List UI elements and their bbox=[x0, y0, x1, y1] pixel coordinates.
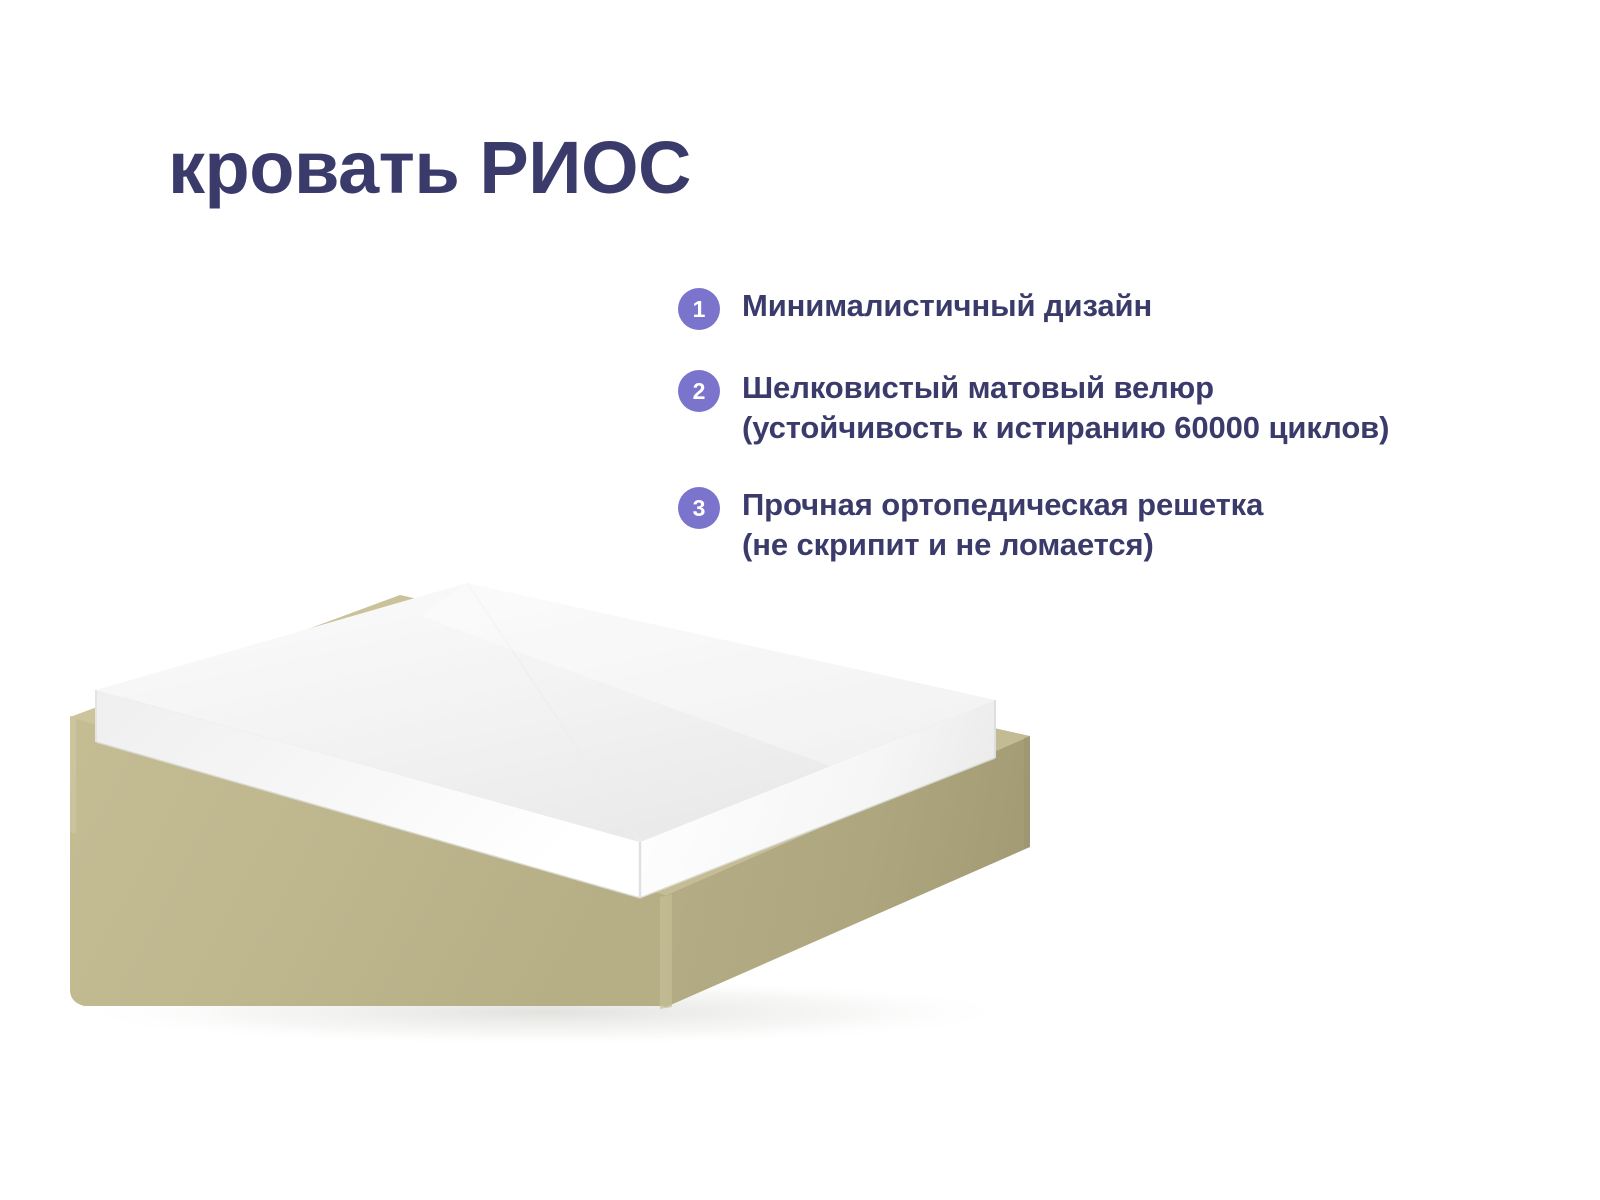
feature-text-1: Минималистичный дизайн bbox=[742, 286, 1152, 326]
feature-text-2: Шелковистый матовый велюр (устойчивость … bbox=[742, 368, 1389, 447]
feature-line: Шелковистый матовый велюр bbox=[742, 368, 1389, 408]
product-image-bed bbox=[0, 520, 1120, 1080]
page-title: кровать РИОС bbox=[168, 131, 691, 205]
bed-base-right-corner-shade bbox=[1024, 736, 1030, 849]
feature-number-badge-2: 2 bbox=[678, 370, 720, 412]
feature-item-1: 1 Минималистичный дизайн bbox=[678, 286, 1508, 330]
feature-item-2: 2 Шелковистый матовый велюр (устойчивост… bbox=[678, 368, 1508, 447]
bed-base-left-corner-highlight bbox=[70, 717, 76, 834]
bed-base-front-corner-highlight bbox=[660, 894, 672, 1009]
feature-line: (устойчивость к истиранию 60000 циклов) bbox=[742, 408, 1389, 448]
infographic-page: кровать РИОС 1 Минималистичный дизайн 2 … bbox=[0, 0, 1600, 1200]
feature-number-badge-1: 1 bbox=[678, 288, 720, 330]
bed-illustration-svg bbox=[0, 520, 1120, 1080]
feature-line: Минималистичный дизайн bbox=[742, 286, 1152, 326]
